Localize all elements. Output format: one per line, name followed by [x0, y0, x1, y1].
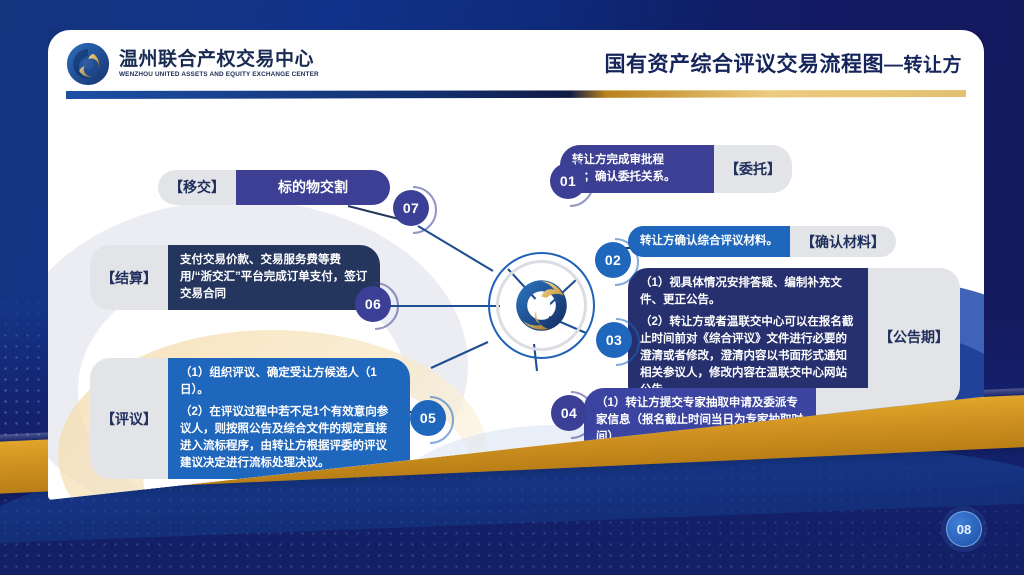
step-line: 标的物交割 [278, 177, 348, 198]
step-item-06[interactable]: 【结算】 支付交易价款、交易服务费等费用/“浙交汇”平台完成订单支付，签订交易合… [90, 245, 380, 310]
step-tag-06: 【结算】 [90, 245, 168, 310]
step-tag-07: 【移交】 [158, 170, 236, 205]
step-item-03[interactable]: （1）视具体情况安排答疑、编制补充文件、更正公告。 （2）转让方或者温联交中心可… [628, 268, 960, 406]
step-body-07: 标的物交割 [236, 170, 390, 205]
step-line: （2）转让方或者温联交中心可以在报名截止时间前对《综合评议》文件进行必要的澄清或… [640, 314, 856, 399]
step-tag-03: 【公告期】 [868, 268, 960, 406]
step-item-05[interactable]: 【评议】 （1）组织评议、确定受让方候选人（1日）。 （2）在评议过程中若不足1… [90, 358, 410, 479]
step-line: 转让方确认综合评议材料。 [640, 233, 778, 250]
step-badge-04[interactable]: 04 [551, 395, 587, 431]
step-item-01[interactable]: 转让方完成审批程 序；确认委托关系。 【委托】 [560, 145, 792, 193]
step-body-06: 支付交易价款、交易服务费等费用/“浙交汇”平台完成订单支付，签订交易合同 [168, 245, 380, 310]
step-line: （1）视具体情况安排答疑、编制补充文件、更正公告。 [640, 275, 856, 309]
slide-root: 08 [0, 0, 1024, 575]
step-line: 支付交易价款、交易服务费等费用/“浙交汇”平台完成订单支付，签订交易合同 [180, 252, 368, 303]
step-item-02[interactable]: 转让方确认综合评议材料。 【确认材料】 [628, 226, 896, 257]
step-badge-07[interactable]: 07 [393, 190, 429, 226]
step-body-05: （1）组织评议、确定受让方候选人（1日）。 （2）在评议过程中若不足1个有效意向… [168, 358, 410, 479]
step-badge-06[interactable]: 06 [355, 286, 391, 322]
hub-wenzhou-swirl-logo-icon [514, 278, 569, 333]
step-badge-05[interactable]: 05 [410, 400, 446, 436]
step-body-02: 转让方确认综合评议材料。 [628, 226, 790, 257]
step-badge-03[interactable]: 03 [596, 322, 632, 358]
step-line: （1）组织评议、确定受让方候选人（1日）。 [180, 365, 398, 399]
page-number-badge: 08 [946, 511, 982, 547]
step-badge-01[interactable]: 01 [550, 163, 586, 199]
step-line: 转让方完成审批程 [572, 152, 702, 169]
step-tag-05: 【评议】 [90, 358, 168, 479]
step-tag-01: 【委托】 [714, 145, 792, 193]
center-hub [488, 252, 595, 359]
step-line: （2）在评议过程中若不足1个有效意向参议人，则按照公告及综合文件的规定直接进入流… [180, 404, 398, 472]
step-badge-02[interactable]: 02 [595, 242, 631, 278]
step-body-03: （1）视具体情况安排答疑、编制补充文件、更正公告。 （2）转让方或者温联交中心可… [628, 268, 868, 406]
step-item-07[interactable]: 【移交】 标的物交割 [158, 170, 390, 205]
step-tag-02: 【确认材料】 [790, 226, 896, 257]
